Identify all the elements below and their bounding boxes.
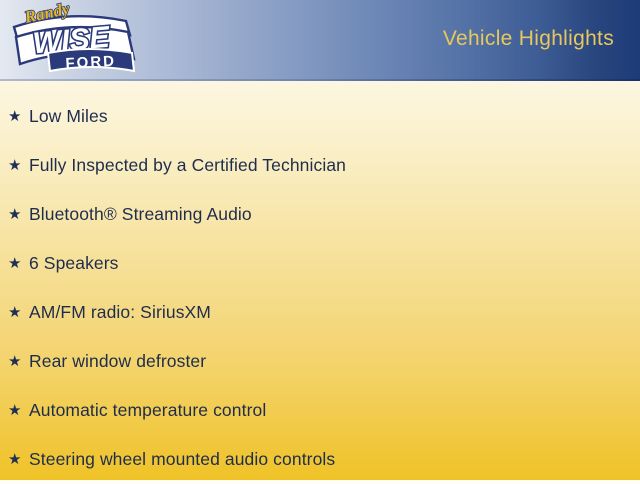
list-item: ★ 6 Speakers bbox=[0, 239, 640, 288]
list-item-label: Rear window defroster bbox=[29, 351, 206, 372]
list-item-label: Low Miles bbox=[29, 106, 108, 127]
star-icon: ★ bbox=[8, 452, 29, 467]
list-item: ★ Automatic temperature control bbox=[0, 386, 640, 435]
list-item-label: Automatic temperature control bbox=[29, 400, 266, 421]
list-item-label: Steering wheel mounted audio controls bbox=[29, 449, 335, 470]
list-item-label: AM/FM radio: SiriusXM bbox=[29, 302, 211, 323]
list-item: ★ Rear window defroster bbox=[0, 337, 640, 386]
list-item-label: Fully Inspected by a Certified Technicia… bbox=[29, 155, 346, 176]
star-icon: ★ bbox=[8, 109, 29, 124]
list-item-label: 6 Speakers bbox=[29, 253, 119, 274]
star-icon: ★ bbox=[8, 207, 29, 222]
page-title: Vehicle Highlights bbox=[443, 27, 614, 51]
list-item-label: Bluetooth® Streaming Audio bbox=[29, 204, 252, 225]
list-item: ★ AM/FM radio: SiriusXM bbox=[0, 288, 640, 337]
list-item: ★ Bluetooth® Streaming Audio bbox=[0, 190, 640, 239]
randy-wise-ford-logo-graphic: WISE Randy FORD bbox=[8, 1, 140, 79]
list-item: ★ Low Miles bbox=[0, 92, 640, 141]
list-item: ★ Fully Inspected by a Certified Technic… bbox=[0, 141, 640, 190]
star-icon: ★ bbox=[8, 403, 29, 418]
list-item: ★ Steering wheel mounted audio controls bbox=[0, 435, 640, 484]
star-icon: ★ bbox=[8, 305, 29, 320]
star-icon: ★ bbox=[8, 158, 29, 173]
dealer-logo[interactable]: WISE Randy FORD bbox=[8, 1, 140, 79]
vehicle-highlights-list: ★ Low Miles ★ Fully Inspected by a Certi… bbox=[0, 92, 640, 484]
star-icon: ★ bbox=[8, 256, 29, 271]
svg-text:FORD: FORD bbox=[65, 53, 116, 73]
star-icon: ★ bbox=[8, 354, 29, 369]
header-divider bbox=[0, 79, 640, 81]
header-band: WISE Randy FORD Vehicle Highlights bbox=[0, 0, 640, 81]
